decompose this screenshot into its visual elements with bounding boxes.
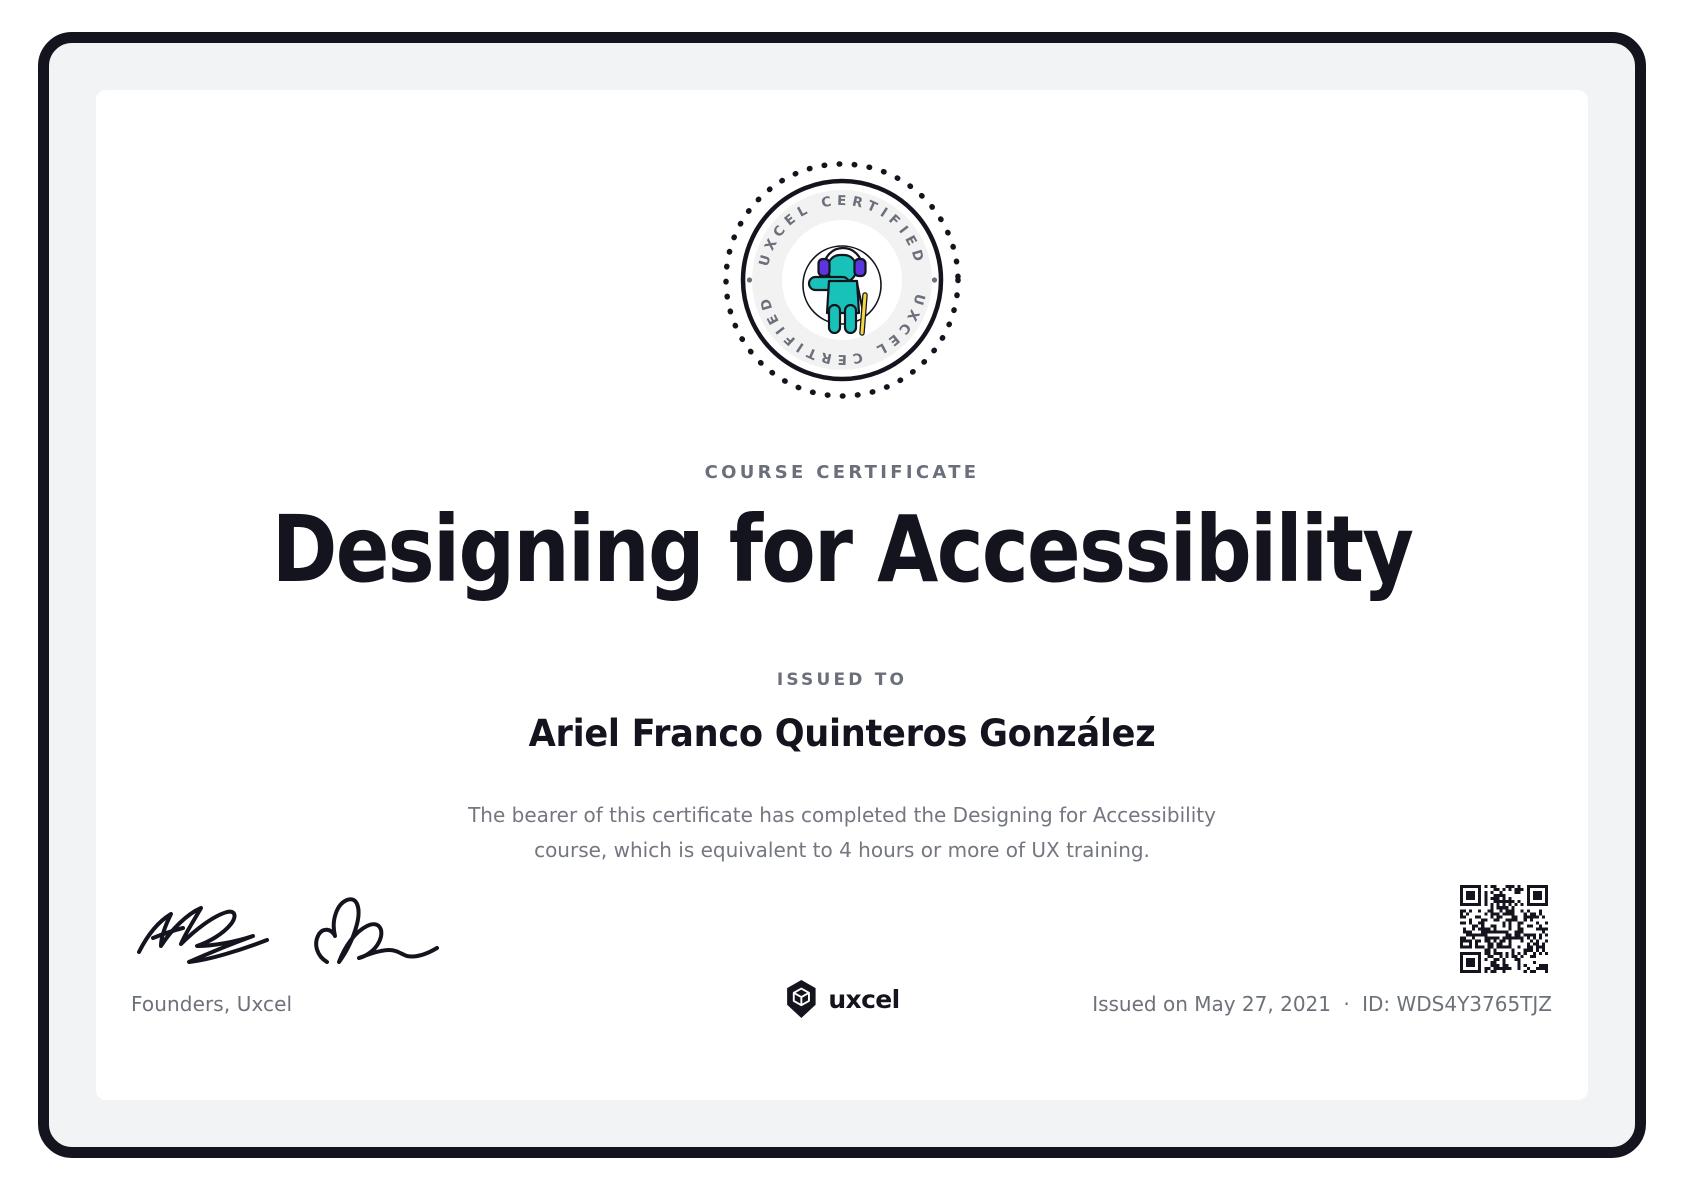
- uxcel-brand-logo: uxcel: [784, 980, 899, 1018]
- issued-to-label: ISSUED TO: [96, 670, 1588, 690]
- certificate-description: The bearer of this certificate has compl…: [462, 798, 1222, 868]
- signature-caption: Founders, Uxcel: [131, 992, 292, 1016]
- uxcel-hexagon-cube-icon: [784, 980, 818, 1018]
- certification-badge: UXCEL CERTIFIED UXCEL CERTIFIED: [96, 155, 1588, 405]
- course-title: Designing for Accessibility: [235, 502, 1449, 599]
- verification-qr-code[interactable]: [1460, 885, 1548, 973]
- issue-date: Issued on May 27, 2021: [1092, 992, 1331, 1016]
- certificate-id: ID: WDS4Y3765TJZ: [1362, 992, 1552, 1016]
- certificate-card: UXCEL CERTIFIED UXCEL CERTIFIED: [96, 90, 1588, 1100]
- founder-signatures: [131, 880, 451, 970]
- qr-code-graphic: [1460, 885, 1548, 973]
- recipient-name: Ariel Franco Quinteros González: [171, 712, 1512, 755]
- badge-seal-graphic: UXCEL CERTIFIED UXCEL CERTIFIED: [717, 155, 967, 405]
- certificate-type-label: COURSE CERTIFICATE: [96, 462, 1588, 483]
- signature-mark: [131, 880, 451, 970]
- uxcel-wordmark: uxcel: [828, 985, 899, 1014]
- certificate-frame: UXCEL CERTIFIED UXCEL CERTIFIED: [38, 32, 1646, 1158]
- issue-separator: ·: [1337, 992, 1355, 1016]
- issue-details: Issued on May 27, 2021 · ID: WDS4Y3765TJ…: [1092, 992, 1552, 1016]
